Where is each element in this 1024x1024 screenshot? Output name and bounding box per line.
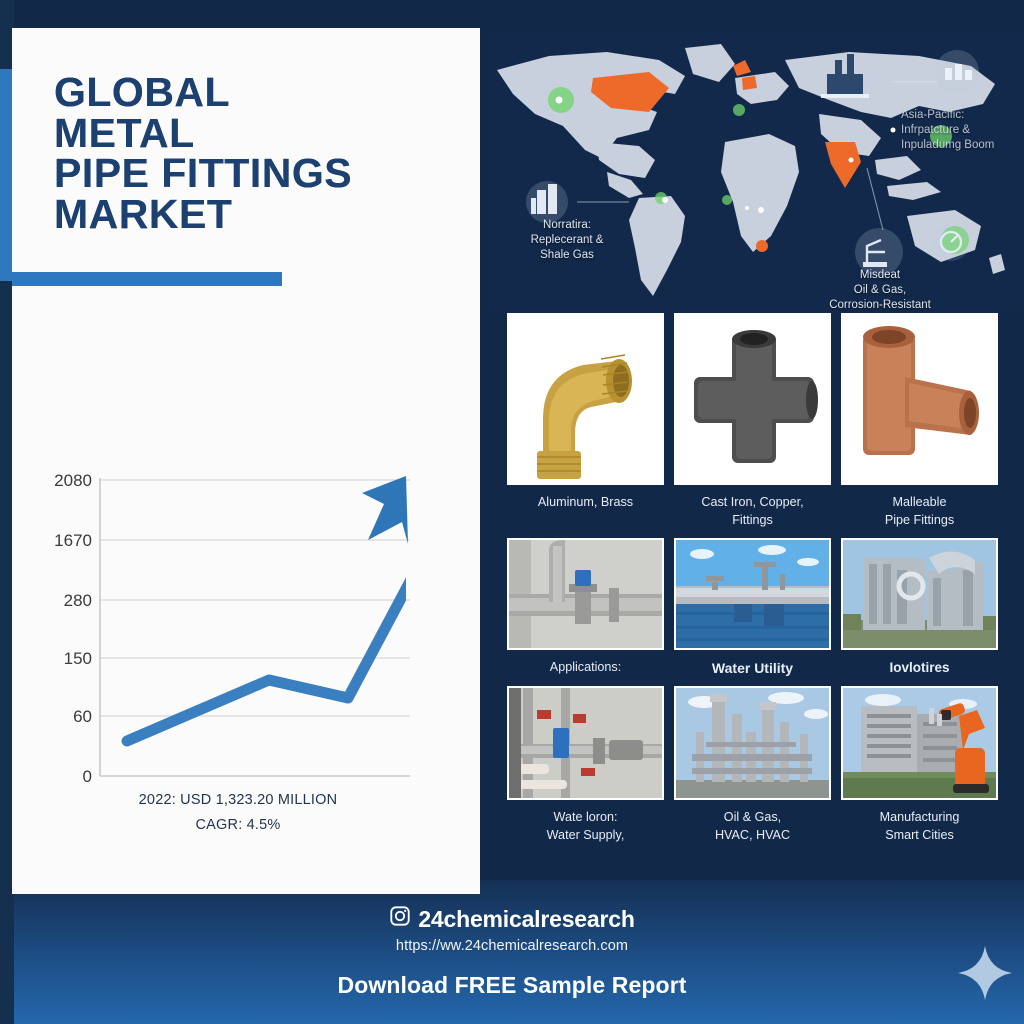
- grid-row-sectors: Wate loron: Water Supply,: [507, 686, 999, 845]
- map-label-ap-line3: Inpuladumg Boom: [901, 138, 1024, 153]
- map-label-north-america: Norratira: Replecerant & Shale Gas: [507, 218, 627, 264]
- map-label-na-line3: Shale Gas: [507, 248, 627, 263]
- grid-row-applications: Applications:: [507, 538, 999, 678]
- accent-bar-horizontal: [12, 272, 282, 286]
- page-title: GLOBAL METAL PIPE FITTINGS MARKET: [54, 72, 454, 234]
- grid-cell-manufacturing[interactable]: Manufacturing Smart Cities: [841, 686, 998, 845]
- copper-elbow-fitting-image: [841, 313, 998, 485]
- grid-cell-industries[interactable]: Iovlotires: [841, 538, 998, 678]
- grid-cell-aluminum-brass[interactable]: Aluminum, Brass: [507, 313, 664, 530]
- map-label-asia-pacific: Asia-Pacific: Infrpatcture & Inpuladumg …: [901, 108, 1024, 154]
- grid-cell-water-supply[interactable]: Wate loron: Water Supply,: [507, 686, 664, 845]
- chart-cagr-line: CAGR: 4.5%: [48, 813, 428, 838]
- offshore-pipeline-image: [674, 538, 831, 650]
- grid-cell-applications[interactable]: Applications:: [507, 538, 664, 678]
- caption-line: Iovlotires: [841, 658, 998, 678]
- title-line-4: MARKET: [54, 194, 454, 235]
- caption-line: Pipe Fittings: [841, 511, 998, 529]
- caption-line: Applications:: [507, 658, 664, 676]
- map-label-na-line2: Replecerant &: [507, 233, 627, 248]
- caption-line: Oil & Gas,: [674, 808, 831, 826]
- footer-brand[interactable]: 24chemicalresearch: [0, 905, 1024, 933]
- product-application-grid: Aluminum, Brass: [507, 313, 999, 852]
- chart-value-line: 2022: USD 1,323.20 MILLION: [48, 788, 428, 813]
- map-label-me-line3: Corrosion-Resistant: [807, 298, 953, 313]
- industrial-pipe-valve-image: [507, 538, 664, 650]
- world-map: Norratira: Replecerant & Shale Gas Misde…: [489, 30, 1024, 315]
- grid-cell-oil-gas-hvac[interactable]: Oil & Gas, HVAC, HVAC: [674, 686, 831, 845]
- map-label-na-line1: Norratira:: [507, 218, 627, 233]
- title-line-2: METAL: [54, 113, 454, 154]
- map-icon-north-america: [526, 181, 568, 223]
- caption-line: Wate loron:: [507, 808, 664, 826]
- grid-caption-applications: Applications:: [507, 658, 664, 676]
- caption-line: Manufacturing: [841, 808, 998, 826]
- grid-cell-cast-iron-copper[interactable]: Cast Iron, Copper, Fittings: [674, 313, 831, 530]
- map-label-middle-east: Misdeat Oil & Gas, Corrosion-Resistant: [807, 268, 953, 314]
- footer-url[interactable]: https://ww.24chemicalresearch.com: [0, 938, 1024, 954]
- ytick-1: 1670: [54, 531, 92, 550]
- cast-iron-cross-fitting-image: [674, 313, 831, 485]
- industrial-plant-image: [841, 538, 998, 650]
- caption-line: Cast Iron, Copper,: [674, 493, 831, 511]
- market-growth-chart: 2080 1670 280 150 60 0 2022: USD 1,323.2…: [28, 458, 428, 858]
- footer-brand-name: 24chemicalresearch: [418, 906, 634, 933]
- grid-caption-oil-gas-hvac: Oil & Gas, HVAC, HVAC: [674, 808, 831, 845]
- plumbing-valves-image: [507, 686, 664, 800]
- ytick-4: 60: [73, 707, 92, 726]
- grid-caption-aluminum-brass: Aluminum, Brass: [507, 493, 664, 511]
- chart-caption: 2022: USD 1,323.20 MILLION CAGR: 4.5%: [48, 788, 428, 839]
- grid-caption-water-supply: Wate loron: Water Supply,: [507, 808, 664, 845]
- infographic-root: GLOBAL METAL PIPE FITTINGS MARKET 2080 1…: [0, 0, 1024, 1024]
- ytick-0: 2080: [54, 471, 92, 490]
- chart-data-line: [127, 510, 428, 741]
- chart-arrowhead: [362, 476, 408, 544]
- ytick-3: 150: [64, 649, 92, 668]
- caption-line: Malleable: [841, 493, 998, 511]
- footer: 24chemicalresearch https://ww.24chemical…: [0, 905, 1024, 999]
- chart-svg: 2080 1670 280 150 60 0: [28, 458, 428, 798]
- caption-line: Water Utility: [674, 658, 831, 678]
- ytick-2: 280: [64, 591, 92, 610]
- brass-elbow-fitting-image: [507, 313, 664, 485]
- caption-line: Aluminum, Brass: [507, 493, 664, 511]
- map-label-me-line2: Oil & Gas,: [807, 283, 953, 298]
- map-icon-asia-pacific: [935, 50, 979, 94]
- download-sample-report-button[interactable]: Download FREE Sample Report: [0, 972, 1024, 999]
- grid-row-products: Aluminum, Brass: [507, 313, 999, 530]
- refinery-image: [674, 686, 831, 800]
- map-label-ap-line2: Infrpatcture &: [901, 123, 1024, 138]
- caption-line: Smart Cities: [841, 826, 998, 844]
- grid-caption-water-utility: Water Utility: [674, 658, 831, 678]
- caption-line: HVAC, HVAC: [674, 826, 831, 844]
- sparkle-icon: [956, 944, 1014, 1007]
- title-line-1: GLOBAL: [54, 72, 454, 113]
- instagram-icon: [389, 905, 411, 933]
- ytick-5: 0: [83, 767, 92, 786]
- caption-line: Water Supply,: [507, 826, 664, 844]
- grid-cell-water-utility[interactable]: Water Utility: [674, 538, 831, 678]
- map-icon-gauge: [932, 223, 970, 261]
- grid-caption-cast-iron-copper: Cast Iron, Copper, Fittings: [674, 493, 831, 530]
- grid-caption-industries: Iovlotires: [841, 658, 998, 678]
- map-label-ap-line1: Asia-Pacific:: [901, 108, 1024, 123]
- map-label-me-line1: Misdeat: [807, 268, 953, 283]
- robot-arm-building-image: [841, 686, 998, 800]
- grid-caption-malleable: Malleable Pipe Fittings: [841, 493, 998, 530]
- caption-line: Fittings: [674, 511, 831, 529]
- chart-y-tick-labels: 2080 1670 280 150 60 0: [54, 471, 92, 786]
- grid-caption-manufacturing: Manufacturing Smart Cities: [841, 808, 998, 845]
- grid-cell-malleable[interactable]: Malleable Pipe Fittings: [841, 313, 998, 530]
- title-line-3: PIPE FITTINGS: [54, 153, 454, 194]
